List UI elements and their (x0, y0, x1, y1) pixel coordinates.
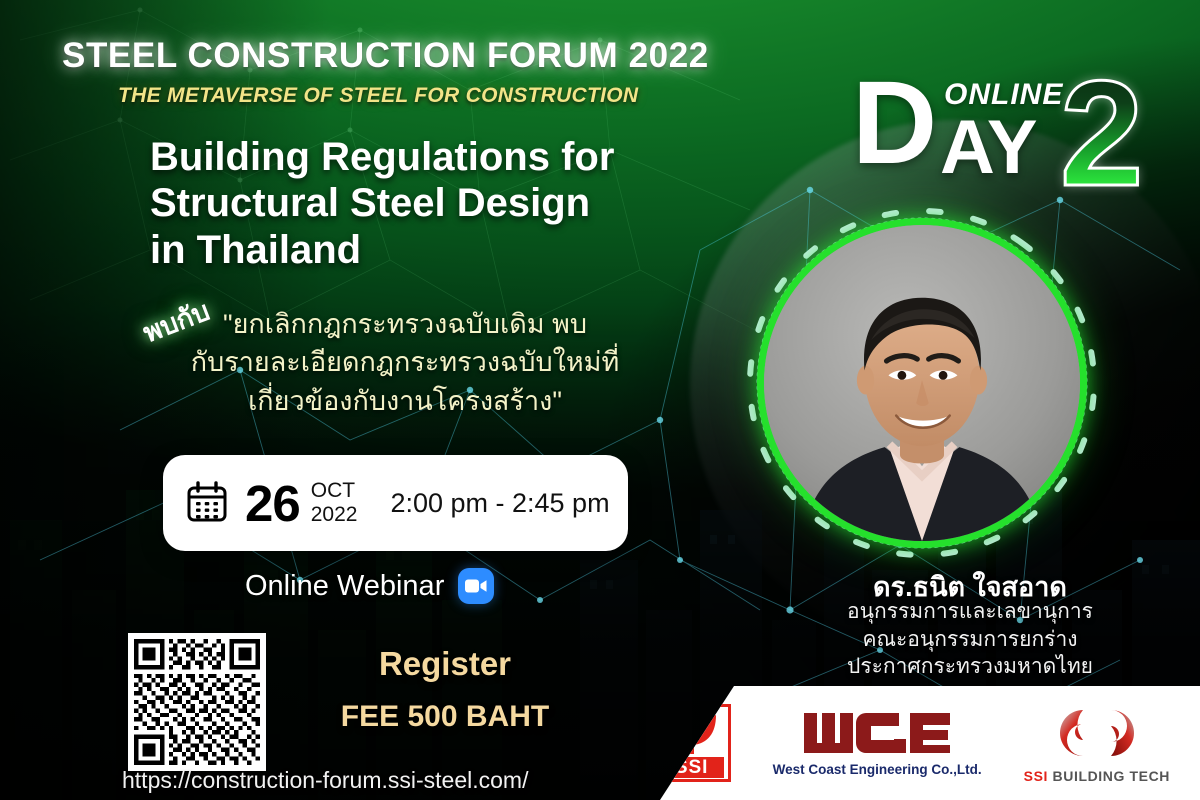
zoom-video-icon[interactable] (458, 568, 494, 604)
speaker-role-line-3: ประกาศกระทรวงมหาดไทย (740, 653, 1200, 681)
event-time: 2:00 pm - 2:45 pm (390, 488, 609, 519)
session-title: Building Regulations for Structural Stee… (150, 134, 770, 273)
register-heading: Register (295, 645, 595, 683)
calendar-icon (185, 481, 229, 525)
ssi-building-tech-logo (1053, 702, 1141, 764)
sponsor-logo-wce: West Coast Engineering Co.,Ltd. (773, 709, 982, 777)
webinar-label: Online Webinar (245, 570, 444, 603)
forum-subtitle: THE METAVERSE OF STEEL FOR CONSTRUCTION (118, 84, 818, 108)
speaker-role-line-1: อนุกรรมการและเลขานุการ (740, 598, 1200, 626)
sponsor-logo-ssi-building-tech: SSI BUILDING TECH (1024, 702, 1170, 784)
day-letter-d: D (852, 64, 937, 182)
event-month: OCT (311, 479, 358, 503)
wce-wordmark: West Coast Engineering Co.,Ltd. (773, 762, 982, 777)
sbt-wordmark-grey: BUILDING TECH (1053, 768, 1170, 784)
session-title-line-3: in Thailand (150, 227, 770, 273)
day-2-badge: 2 D ONLINE AY (848, 62, 1168, 182)
qr-code-pattern (134, 639, 260, 765)
speaker-role-line-2: คณะอนุกรรมการยกร่าง (740, 626, 1200, 654)
event-poster: STEEL CONSTRUCTION FORUM 2022 THE METAVE… (0, 0, 1200, 800)
event-month-year: OCT 2022 (311, 479, 358, 526)
wce-logo (802, 709, 952, 761)
webinar-row: Online Webinar (245, 568, 494, 604)
qr-code-icon[interactable] (128, 633, 266, 771)
session-title-line-2: Structural Steel Design (150, 180, 770, 226)
event-year: 2022 (311, 503, 358, 527)
speaker-portrait-wrap (757, 218, 1087, 548)
quote-line-2: กับรายละเอียดกฎกระทรวงฉบับใหม่ที่ (185, 343, 625, 381)
speaker-role: อนุกรรมการและเลขานุการ คณะอนุกรรมการยกร่… (740, 598, 1200, 681)
video-camera-glyph (465, 579, 487, 593)
registration-url[interactable]: https://construction-forum.ssi-steel.com… (122, 767, 528, 794)
register-fee: FEE 500 BAHT (285, 700, 605, 734)
quote-line-3: เกี่ยวข้องกับงานโครงสร้าง" (185, 382, 625, 420)
date-time-card: 26 OCT 2022 2:00 pm - 2:45 pm (163, 455, 628, 551)
day-letters-ay: AY (940, 110, 1037, 186)
sponsor-logo-band: SSI West Coast Engineering Co.,Ltd. (660, 686, 1200, 800)
event-day: 26 (245, 478, 300, 529)
sbt-wordmark-red: SSI (1024, 768, 1048, 784)
session-title-line-1: Building Regulations for (150, 134, 770, 180)
day-number: 2 (1060, 58, 1143, 208)
session-quote: "ยกเลิกกฎกระทรวงฉบับเดิม พบ กับรายละเอีย… (185, 305, 625, 420)
speaker-portrait (757, 218, 1087, 548)
speaker-photo-illustration (764, 225, 1080, 541)
quote-line-1: "ยกเลิกกฎกระทรวงฉบับเดิม พบ (185, 305, 625, 343)
ssi-building-tech-wordmark: SSI BUILDING TECH (1024, 768, 1170, 784)
forum-title: STEEL CONSTRUCTION FORUM 2022 (62, 36, 822, 76)
